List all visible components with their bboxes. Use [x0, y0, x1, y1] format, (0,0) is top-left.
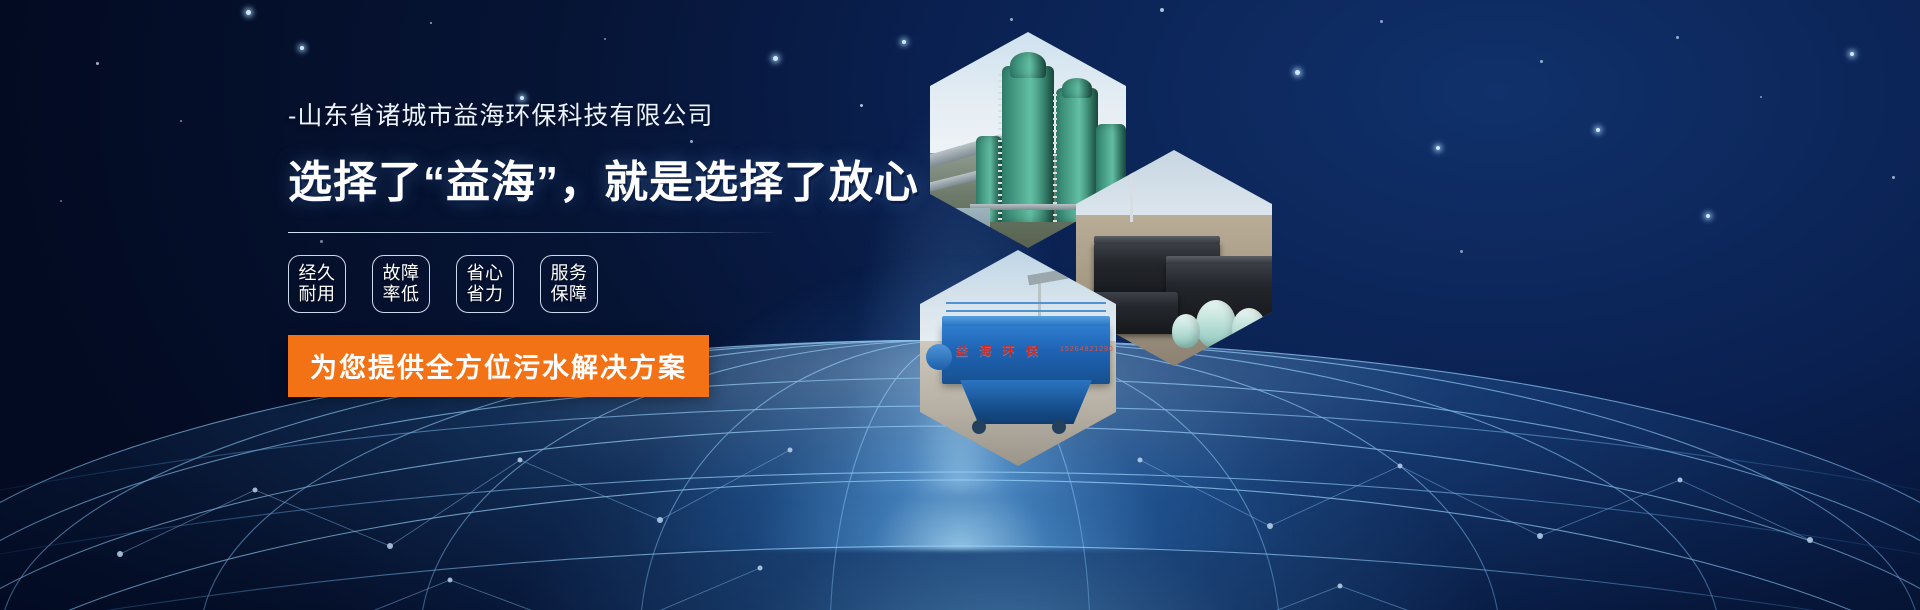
badge-line-2: 耐用 [299, 284, 336, 305]
hex-image-cluster: 益 海 环 保 15264821290 [880, 0, 1360, 610]
feature-badge-list: 经久 耐用 故障 率低 省心 省力 服务 保障 [288, 255, 848, 313]
cta-button[interactable]: 为您提供全方位污水解决方案 [288, 335, 709, 397]
badge-line-2: 保障 [551, 284, 588, 305]
badge-line-1: 故障 [383, 263, 420, 284]
machine-brand-text: 益 海 环 保 [956, 342, 1042, 359]
divider [288, 232, 778, 233]
company-subtitle: -山东省诸城市益海环保科技有限公司 [288, 96, 848, 132]
hero-copy: -山东省诸城市益海环保科技有限公司 选择了“益海”，就是选择了放心 经久 耐用 … [288, 96, 848, 397]
feature-badge-effortless[interactable]: 省心 省力 [456, 255, 514, 313]
badge-line-1: 省心 [467, 263, 504, 284]
badge-line-2: 率低 [383, 284, 420, 305]
machine-phone-text: 15264821290 [1060, 346, 1114, 353]
badge-line-1: 经久 [299, 263, 336, 284]
badge-line-1: 服务 [551, 263, 588, 284]
hero-headline: 选择了“益海”，就是选择了放心 [288, 146, 848, 210]
badge-line-2: 省力 [467, 284, 504, 305]
feature-badge-service[interactable]: 服务 保障 [540, 255, 598, 313]
hero-banner: -山东省诸城市益海环保科技有限公司 选择了“益海”，就是选择了放心 经久 耐用 … [0, 0, 1920, 610]
feature-badge-durable[interactable]: 经久 耐用 [288, 255, 346, 313]
feature-badge-low-failure[interactable]: 故障 率低 [372, 255, 430, 313]
